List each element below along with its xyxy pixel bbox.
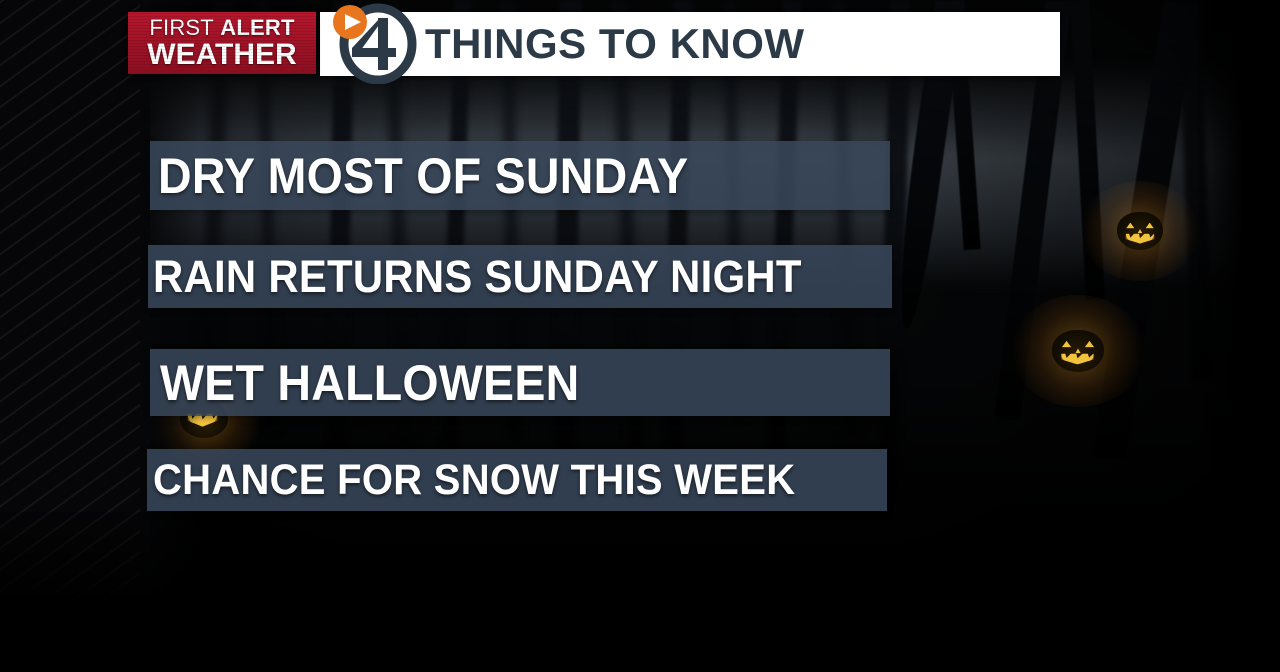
weather-graphic-stage: THINGS TO KNOW FIRST ALERT WEATHER DRY M… (0, 0, 1280, 672)
badge-word-first: FIRST (149, 15, 214, 40)
badge-line-one: FIRST ALERT (149, 17, 294, 39)
page-title: THINGS TO KNOW (425, 20, 805, 68)
bullet-item-2: RAIN RETURNS SUNDAY NIGHT (148, 245, 892, 308)
bullet-item-3: WET HALLOWEEN (150, 349, 890, 416)
badge-word-weather: WEATHER (147, 40, 296, 70)
bullet-list: DRY MOST OF SUNDAY RAIN RETURNS SUNDAY N… (0, 0, 1280, 672)
channel-4-logo (322, 2, 426, 84)
bullet-item-1: DRY MOST OF SUNDAY (150, 141, 890, 210)
first-alert-weather-badge: FIRST ALERT WEATHER (128, 12, 316, 74)
bullet-text-3: WET HALLOWEEN (160, 354, 580, 412)
bullet-text-4: CHANCE FOR SNOW THIS WEEK (153, 456, 795, 505)
bullet-text-1: DRY MOST OF SUNDAY (158, 147, 688, 205)
bullet-item-4: CHANCE FOR SNOW THIS WEEK (147, 449, 887, 511)
bullet-text-2: RAIN RETURNS SUNDAY NIGHT (153, 251, 802, 303)
header-banner: THINGS TO KNOW (320, 12, 1060, 76)
badge-word-alert: ALERT (220, 15, 294, 40)
